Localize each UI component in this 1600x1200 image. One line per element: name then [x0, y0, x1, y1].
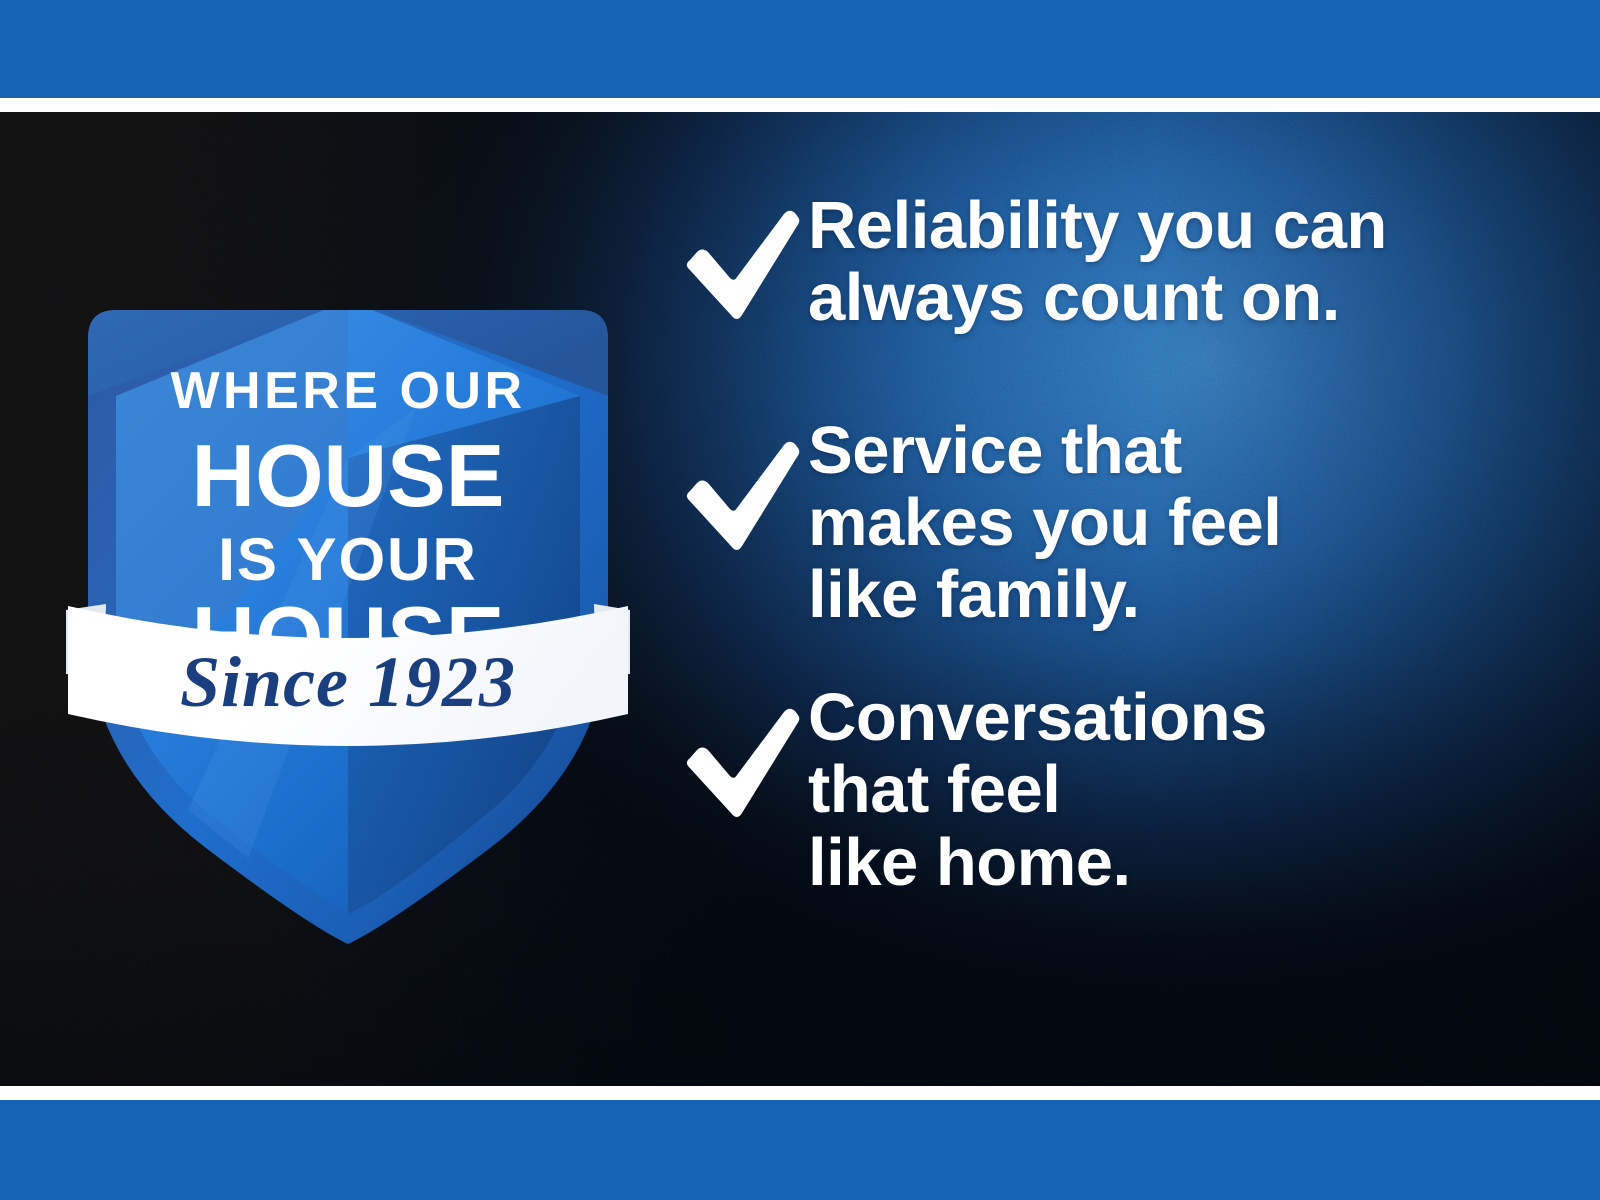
bottom-white-divider — [0, 1086, 1600, 1100]
logo-tagline-line2: HOUSE — [192, 426, 505, 525]
top-brand-bar — [0, 0, 1600, 98]
benefit-item: Reliability you can always count on. — [676, 190, 1556, 335]
bottom-brand-bar — [0, 1100, 1600, 1200]
shield-logo: WHERE OUR HOUSE IS YOUR HOUSE Since 1923 — [60, 158, 636, 948]
check-icon — [676, 190, 808, 326]
benefit-item: Conversations that feel like home. — [676, 682, 1556, 899]
logo-tagline-line3: IS YOUR — [218, 526, 478, 593]
benefit-item: Service that makes you feel like family. — [676, 415, 1556, 632]
logo-tagline-line1: WHERE OUR — [170, 362, 525, 420]
benefits-list: Reliability you can always count on. Ser… — [676, 190, 1556, 899]
check-icon — [676, 682, 808, 824]
benefit-text: Reliability you can always count on. — [808, 190, 1556, 335]
benefit-text: Conversations that feel like home. — [808, 682, 1556, 899]
benefit-text: Service that makes you feel like family. — [808, 415, 1556, 632]
check-icon — [676, 415, 808, 557]
ribbon-since-text: Since 1923 — [180, 642, 516, 722]
top-white-divider — [0, 98, 1600, 112]
promo-graphic: WHERE OUR HOUSE IS YOUR HOUSE Since 1923… — [0, 0, 1600, 1200]
